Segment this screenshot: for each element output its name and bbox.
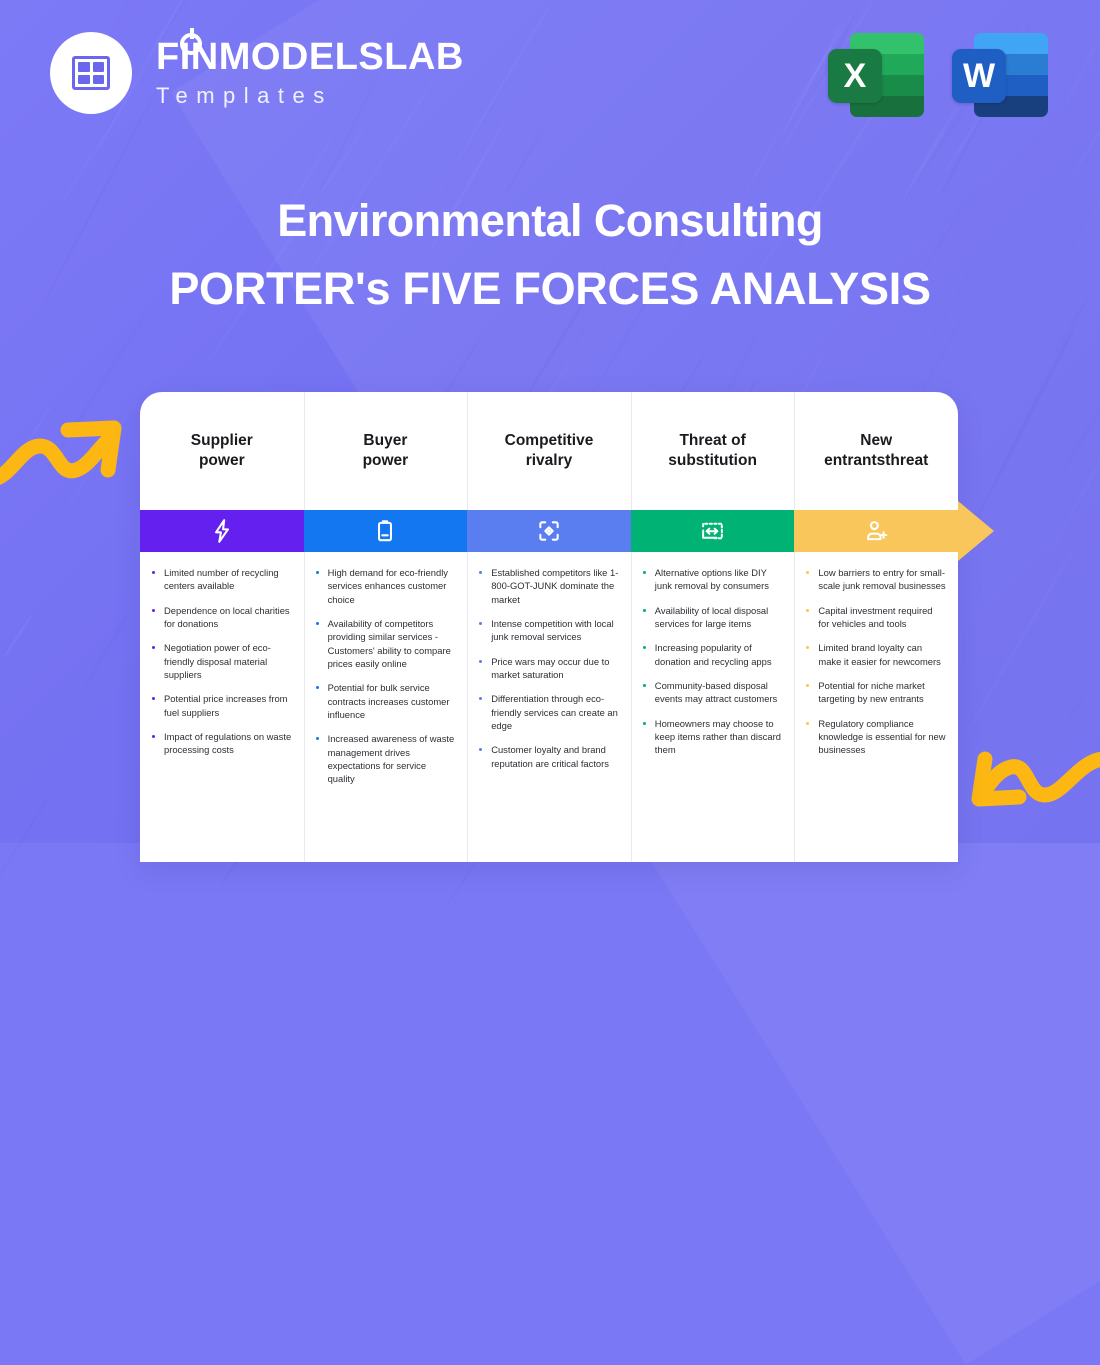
force-title-line2: substitution — [668, 452, 757, 469]
page-title: Environmental Consulting — [0, 196, 1100, 246]
office-file-type-icons: XW — [828, 27, 1048, 123]
force-bullet-list-wrap: Limited number of recycling centers avai… — [140, 552, 304, 778]
forces-columns: Supplierpower Limited number of recyclin… — [140, 392, 958, 862]
list-item: Dependence on local charities for donati… — [148, 604, 292, 631]
grid-logo-icon — [50, 32, 132, 114]
force-column-header: Supplierpower — [140, 392, 304, 510]
force-title-line2: entrantsthreat — [824, 452, 928, 469]
force-title-line2: power — [363, 452, 409, 469]
force-column-title: Supplierpower — [191, 431, 253, 471]
list-item: Limited number of recycling centers avai… — [148, 566, 292, 593]
list-item: Homeowners may choose to keep items rath… — [639, 717, 783, 757]
force-band-1 — [140, 510, 304, 552]
force-column-header: Newentrantsthreat — [794, 392, 958, 510]
force-bullet-list: Low barriers to entry for small-scale ju… — [802, 566, 946, 757]
force-band-5 — [794, 510, 958, 552]
list-item: High demand for eco-friendly services en… — [312, 566, 456, 606]
force-title-line1: Supplier — [191, 432, 253, 449]
list-item: Potential price increases from fuel supp… — [148, 692, 292, 719]
force-column-2: Buyerpower High demand for eco-friendly … — [304, 392, 468, 862]
list-item: Increasing popularity of donation and re… — [639, 641, 783, 668]
force-bullet-list-wrap: Alternative options like DIY junk remova… — [631, 552, 795, 778]
list-item: Community-based disposal events may attr… — [639, 679, 783, 706]
word-icon-badge: W — [952, 49, 1006, 103]
list-item: Increased awareness of waste management … — [312, 732, 456, 785]
force-title-line2: power — [199, 452, 245, 469]
word-icon[interactable]: W — [952, 27, 1048, 123]
clipboard-icon — [372, 518, 398, 544]
brand-tagline: Templates — [156, 83, 464, 109]
list-item: Price wars may occur due to market satur… — [475, 655, 619, 682]
force-column-header: Buyerpower — [304, 392, 468, 510]
force-bullet-list: High demand for eco-friendly services en… — [312, 566, 456, 786]
list-item: Differentiation through eco-friendly ser… — [475, 692, 619, 732]
force-column-title: Competitiverivalry — [505, 431, 594, 471]
force-title-line1: Buyer — [363, 432, 407, 449]
list-item: Customer loyalty and brand reputation ar… — [475, 743, 619, 770]
title-block: Environmental Consulting PORTER's FIVE F… — [0, 196, 1100, 315]
list-item: Capital investment required for vehicles… — [802, 604, 946, 631]
force-column-header: Threat ofsubstitution — [631, 392, 795, 510]
list-item: Established competitors like 1-800-GOT-J… — [475, 566, 619, 606]
page-subtitle: PORTER's FIVE FORCES ANALYSIS — [0, 264, 1100, 314]
list-item: Potential for bulk service contracts inc… — [312, 681, 456, 721]
force-bullet-list: Alternative options like DIY junk remova… — [639, 566, 783, 757]
list-item: Availability of competitors providing si… — [312, 617, 456, 670]
force-column-header: Competitiverivalry — [467, 392, 631, 510]
exchange-arrows-icon — [699, 518, 726, 544]
force-title-line2: rivalry — [526, 452, 573, 469]
force-title-line1: New — [860, 432, 892, 449]
force-column-title: Newentrantsthreat — [824, 431, 928, 471]
force-bullet-list-wrap: High demand for eco-friendly services en… — [304, 552, 468, 807]
list-item: Limited brand loyalty can make it easier… — [802, 641, 946, 668]
logo-ring-accent-icon — [180, 33, 202, 55]
force-band-3 — [467, 510, 631, 552]
force-bullet-list-wrap: Low barriers to entry for small-scale ju… — [794, 552, 958, 778]
force-title-line1: Threat of — [679, 432, 745, 449]
force-column-5: Newentrantsthreat Low barriers to entry … — [794, 392, 958, 862]
excel-icon-badge: X — [828, 49, 882, 103]
add-user-icon — [863, 518, 889, 544]
force-bullet-list-wrap: Established competitors like 1-800-GOT-J… — [467, 552, 631, 791]
list-item: Negotiation power of eco-friendly dispos… — [148, 641, 292, 681]
force-column-title: Buyerpower — [363, 431, 409, 471]
force-column-title: Threat ofsubstitution — [668, 431, 757, 471]
force-bullet-list: Established competitors like 1-800-GOT-J… — [475, 566, 619, 770]
brand-name: FINMODELSLAB — [156, 38, 464, 76]
force-band-2 — [304, 510, 468, 552]
list-item: Alternative options like DIY junk remova… — [639, 566, 783, 593]
force-column-4: Threat ofsubstitution Alternative option… — [631, 392, 795, 862]
porters-five-forces-card: Supplierpower Limited number of recyclin… — [140, 392, 958, 862]
force-bullet-list: Limited number of recycling centers avai… — [148, 566, 292, 757]
list-item: Intense competition with local junk remo… — [475, 617, 619, 644]
excel-icon[interactable]: X — [828, 27, 924, 123]
focus-target-icon — [536, 518, 562, 544]
list-item: Impact of regulations on waste processin… — [148, 730, 292, 757]
force-band-4 — [631, 510, 795, 552]
force-column-3: CompetitiverivalryEstablished competitor… — [467, 392, 631, 862]
force-column-1: Supplierpower Limited number of recyclin… — [140, 392, 304, 862]
brand-logo[interactable]: FINMODELSLAB Templates — [50, 32, 464, 114]
list-item: Potential for niche market targeting by … — [802, 679, 946, 706]
force-title-line1: Competitive — [505, 432, 594, 449]
list-item: Regulatory compliance knowledge is essen… — [802, 717, 946, 757]
list-item: Low barriers to entry for small-scale ju… — [802, 566, 946, 593]
lightning-bolt-icon — [209, 518, 235, 544]
list-item: Availability of local disposal services … — [639, 604, 783, 631]
